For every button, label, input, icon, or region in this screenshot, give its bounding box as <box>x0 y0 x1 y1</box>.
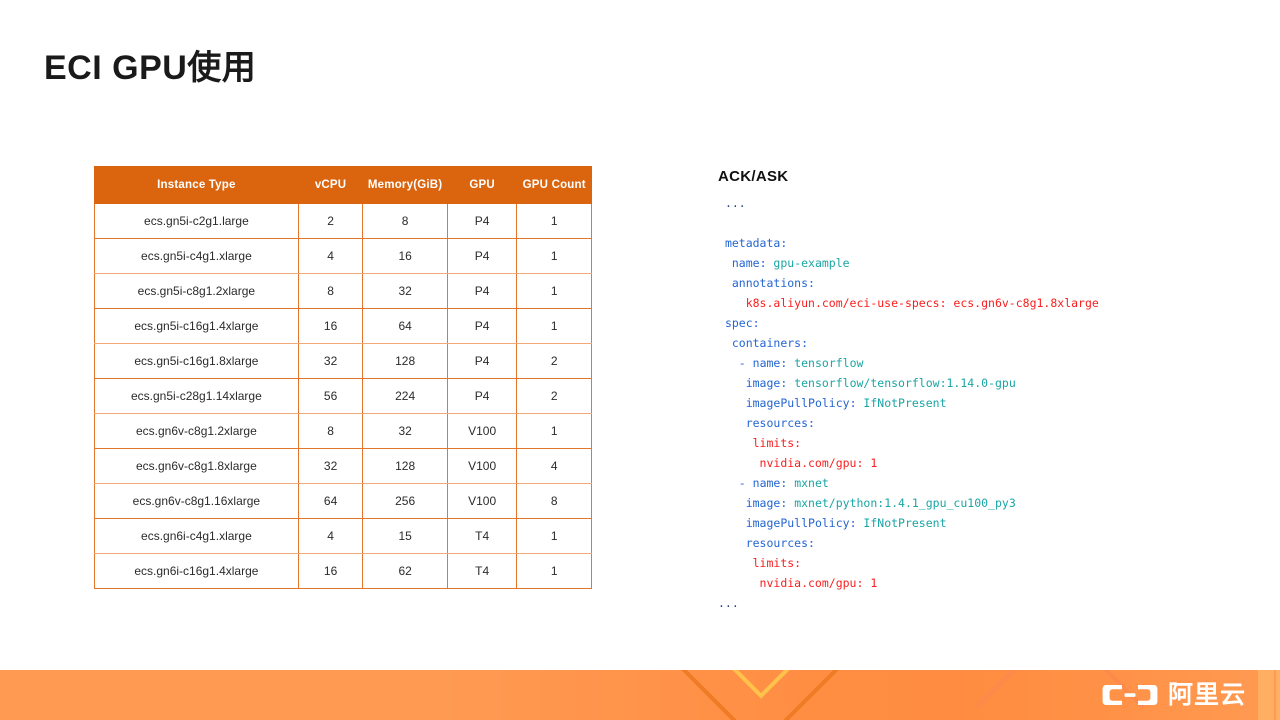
code-indent <box>718 396 746 410</box>
cell-gpu: P4 <box>447 274 517 309</box>
code-line: metadata: <box>718 233 1238 253</box>
column-header-gpu-count: GPU Count <box>517 167 592 204</box>
logo-text: 阿里云 <box>1168 683 1246 708</box>
table-row: ecs.gn5i-c4g1.xlarge416P41 <box>95 239 592 274</box>
code-token: name <box>732 256 760 270</box>
code-token: IfNotPresent <box>863 396 946 410</box>
cell-instance-type: ecs.gn5i-c16g1.4xlarge <box>95 309 299 344</box>
code-indent <box>718 316 725 330</box>
alibaba-cloud-logo: 阿里云 <box>1102 681 1246 709</box>
code-token: : <box>753 316 760 330</box>
code-token: limits: <box>753 556 801 570</box>
code-line <box>718 213 1238 233</box>
code-indent <box>718 456 760 470</box>
cell-memory: 128 <box>363 449 447 484</box>
code-token: mxnet <box>794 476 829 490</box>
footer-decoration <box>0 670 1280 720</box>
code-line: limits: <box>718 433 1238 453</box>
table-row: ecs.gn5i-c8g1.2xlarge832P41 <box>95 274 592 309</box>
code-token: : <box>850 516 864 530</box>
code-indent <box>718 336 732 350</box>
code-line: ... <box>718 193 1238 213</box>
instance-spec-table: Instance Type vCPU Memory(GiB) GPU GPU C… <box>94 166 592 589</box>
highlight-bar-1 <box>1258 670 1274 720</box>
table-header-row: Instance Type vCPU Memory(GiB) GPU GPU C… <box>95 167 592 204</box>
code-token: ... <box>718 596 739 610</box>
code-token: : <box>780 356 794 370</box>
code-token: IfNotPresent <box>863 516 946 530</box>
code-token: resources <box>746 536 808 550</box>
cell-gpu: V100 <box>447 414 517 449</box>
code-indent <box>718 476 739 490</box>
cell-instance-type: ecs.gn6v-c8g1.16xlarge <box>95 484 299 519</box>
code-token: imagePullPolicy <box>746 396 850 410</box>
footer-band: 阿里云 <box>0 670 1280 720</box>
highlight-bar-2 <box>1276 670 1280 720</box>
slide: ECI GPU使用 Instance Type vCPU Memory(GiB)… <box>0 0 1280 720</box>
code-token: - <box>739 356 753 370</box>
code-line: limits: <box>718 553 1238 573</box>
code-indent <box>718 576 760 590</box>
code-token: mxnet/python:1.4.1_gpu_cu100_py3 <box>794 496 1016 510</box>
cell-memory: 256 <box>363 484 447 519</box>
cell-vcpu: 64 <box>298 484 363 519</box>
code-line: spec: <box>718 313 1238 333</box>
cell-memory: 128 <box>363 344 447 379</box>
cell-gpu-count: 2 <box>517 344 592 379</box>
code-token: : <box>808 276 815 290</box>
cell-gpu-count: 1 <box>517 204 592 239</box>
code-indent <box>718 276 732 290</box>
cell-gpu: P4 <box>447 344 517 379</box>
code-token: : <box>808 416 815 430</box>
column-header-memory: Memory(GiB) <box>363 167 447 204</box>
code-line: image: mxnet/python:1.4.1_gpu_cu100_py3 <box>718 493 1238 513</box>
cell-vcpu: 16 <box>298 554 363 589</box>
code-token: : <box>780 496 794 510</box>
cell-memory: 62 <box>363 554 447 589</box>
code-indent <box>718 356 739 370</box>
code-indent <box>718 296 746 310</box>
code-indent <box>718 516 746 530</box>
code-token: annotations <box>732 276 808 290</box>
code-panel-heading: ACK/ASK <box>718 168 1238 185</box>
code-token: name <box>753 476 781 490</box>
code-token: containers <box>732 336 801 350</box>
code-token: - <box>739 476 753 490</box>
cell-memory: 224 <box>363 379 447 414</box>
code-line: nvidia.com/gpu: 1 <box>718 453 1238 473</box>
cell-memory: 15 <box>363 519 447 554</box>
table-row: ecs.gn5i-c16g1.4xlarge1664P41 <box>95 309 592 344</box>
code-token: : <box>850 396 864 410</box>
code-token: tensorflow <box>794 356 863 370</box>
column-header-vcpu: vCPU <box>298 167 363 204</box>
code-line: image: tensorflow/tensorflow:1.14.0-gpu <box>718 373 1238 393</box>
code-token: imagePullPolicy <box>746 516 850 530</box>
code-line: - name: mxnet <box>718 473 1238 493</box>
cell-instance-type: ecs.gn5i-c2g1.large <box>95 204 299 239</box>
code-token: : <box>780 236 787 250</box>
yaml-code-block: ... metadata: name: gpu-example annotati… <box>718 193 1238 613</box>
cell-gpu-count: 1 <box>517 414 592 449</box>
page-title: ECI GPU使用 <box>44 40 256 89</box>
cell-instance-type: ecs.gn6i-c16g1.4xlarge <box>95 554 299 589</box>
cell-vcpu: 56 <box>298 379 363 414</box>
code-indent <box>718 416 746 430</box>
column-header-gpu: GPU <box>447 167 517 204</box>
cell-gpu: T4 <box>447 554 517 589</box>
cell-vcpu: 32 <box>298 449 363 484</box>
cell-instance-type: ecs.gn5i-c16g1.8xlarge <box>95 344 299 379</box>
cell-vcpu: 8 <box>298 274 363 309</box>
cell-instance-type: ecs.gn6v-c8g1.2xlarge <box>95 414 299 449</box>
code-indent <box>718 496 746 510</box>
code-token: limits: <box>753 436 801 450</box>
cell-memory: 8 <box>363 204 447 239</box>
code-indent <box>718 556 753 570</box>
code-token: resources <box>746 416 808 430</box>
code-token: spec <box>725 316 753 330</box>
code-token: k8s.aliyun.com/eci-use-specs: ecs.gn6v-c… <box>746 296 1099 310</box>
code-token: : <box>760 256 774 270</box>
table-row: ecs.gn5i-c28g1.14xlarge56224P42 <box>95 379 592 414</box>
code-token: : <box>808 536 815 550</box>
cell-gpu-count: 1 <box>517 239 592 274</box>
cell-gpu-count: 1 <box>517 519 592 554</box>
table-row: ecs.gn6i-c16g1.4xlarge1662T41 <box>95 554 592 589</box>
code-line: resources: <box>718 413 1238 433</box>
cell-gpu: T4 <box>447 519 517 554</box>
code-line: imagePullPolicy: IfNotPresent <box>718 393 1238 413</box>
cell-instance-type: ecs.gn5i-c28g1.14xlarge <box>95 379 299 414</box>
cell-vcpu: 4 <box>298 239 363 274</box>
code-token: image <box>746 376 781 390</box>
table-row: ecs.gn5i-c16g1.8xlarge32128P42 <box>95 344 592 379</box>
cell-gpu: V100 <box>447 484 517 519</box>
code-indent <box>718 376 746 390</box>
code-line: - name: tensorflow <box>718 353 1238 373</box>
cell-instance-type: ecs.gn5i-c4g1.xlarge <box>95 239 299 274</box>
table-row: ecs.gn6i-c4g1.xlarge415T41 <box>95 519 592 554</box>
cell-gpu-count: 8 <box>517 484 592 519</box>
code-token: image <box>746 496 781 510</box>
code-line: containers: <box>718 333 1238 353</box>
table-row: ecs.gn6v-c8g1.8xlarge32128V1004 <box>95 449 592 484</box>
code-token: nvidia.com/gpu: 1 <box>760 456 878 470</box>
code-line: imagePullPolicy: IfNotPresent <box>718 513 1238 533</box>
cell-gpu: V100 <box>447 449 517 484</box>
cell-memory: 16 <box>363 239 447 274</box>
cell-instance-type: ecs.gn6v-c8g1.8xlarge <box>95 449 299 484</box>
cell-gpu-count: 4 <box>517 449 592 484</box>
column-header-instance-type: Instance Type <box>95 167 299 204</box>
cell-memory: 64 <box>363 309 447 344</box>
cell-vcpu: 4 <box>298 519 363 554</box>
cell-vcpu: 16 <box>298 309 363 344</box>
ack-ask-yaml-panel: ACK/ASK ... metadata: name: gpu-example … <box>718 168 1238 613</box>
code-token: metadata <box>725 236 780 250</box>
cell-gpu-count: 1 <box>517 554 592 589</box>
cell-gpu: P4 <box>447 204 517 239</box>
table-row: ecs.gn6v-c8g1.16xlarge64256V1008 <box>95 484 592 519</box>
code-token: ... <box>725 196 746 210</box>
code-line: name: gpu-example <box>718 253 1238 273</box>
code-indent <box>718 236 725 250</box>
cell-instance-type: ecs.gn5i-c8g1.2xlarge <box>95 274 299 309</box>
code-indent <box>718 536 746 550</box>
cell-vcpu: 32 <box>298 344 363 379</box>
cell-memory: 32 <box>363 274 447 309</box>
code-indent <box>718 256 732 270</box>
code-line: annotations: <box>718 273 1238 293</box>
code-token: : <box>801 336 808 350</box>
cell-vcpu: 2 <box>298 204 363 239</box>
table-row: ecs.gn5i-c2g1.large28P41 <box>95 204 592 239</box>
code-token: : <box>780 376 794 390</box>
code-indent <box>718 436 753 450</box>
code-line: k8s.aliyun.com/eci-use-specs: ecs.gn6v-c… <box>718 293 1238 313</box>
cell-vcpu: 8 <box>298 414 363 449</box>
cell-gpu-count: 1 <box>517 274 592 309</box>
code-token: nvidia.com/gpu: 1 <box>760 576 878 590</box>
code-indent <box>718 196 725 210</box>
cell-gpu: P4 <box>447 309 517 344</box>
cell-memory: 32 <box>363 414 447 449</box>
code-line: ... <box>718 593 1238 613</box>
table-row: ecs.gn6v-c8g1.2xlarge832V1001 <box>95 414 592 449</box>
cell-gpu: P4 <box>447 379 517 414</box>
code-token: gpu-example <box>773 256 849 270</box>
cell-gpu: P4 <box>447 239 517 274</box>
cell-gpu-count: 1 <box>517 309 592 344</box>
cell-instance-type: ecs.gn6i-c4g1.xlarge <box>95 519 299 554</box>
alibaba-cloud-bracket-icon <box>1102 681 1158 709</box>
code-token: name <box>753 356 781 370</box>
code-token: tensorflow/tensorflow:1.14.0-gpu <box>794 376 1016 390</box>
code-line: resources: <box>718 533 1238 553</box>
code-line: nvidia.com/gpu: 1 <box>718 573 1238 593</box>
cell-gpu-count: 2 <box>517 379 592 414</box>
code-token: : <box>780 476 794 490</box>
